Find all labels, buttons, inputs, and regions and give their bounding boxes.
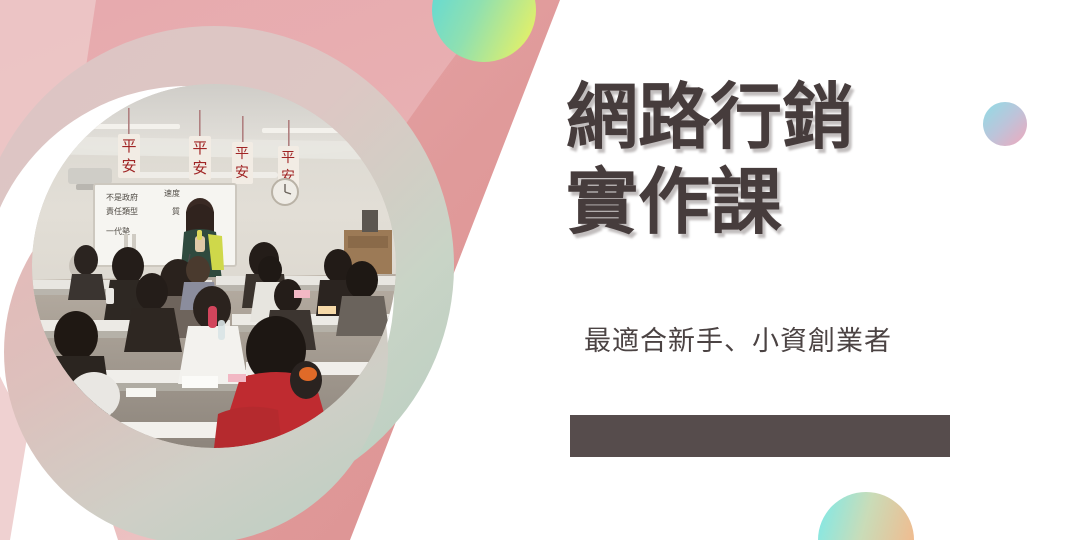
svg-text:速度: 速度 xyxy=(164,188,180,198)
svg-text:平: 平 xyxy=(121,137,136,155)
svg-text:安: 安 xyxy=(235,165,249,181)
svg-text:平: 平 xyxy=(235,146,249,162)
svg-text:責任類型: 責任類型 xyxy=(106,206,138,216)
poster-canvas: 平 安 平 安 平 安 平 安 xyxy=(0,0,1080,540)
text-column: 網路行銷 實作課 最適合新手、小資創業者 xyxy=(566,0,986,540)
svg-text:平: 平 xyxy=(192,139,207,157)
svg-text:質: 質 xyxy=(172,206,180,216)
svg-text:安: 安 xyxy=(192,159,207,177)
poster-title-line-1: 網路行銷 xyxy=(566,76,854,161)
gradient-dot-right-icon xyxy=(983,102,1027,146)
svg-text:不是政府: 不是政府 xyxy=(106,192,138,202)
svg-text:安: 安 xyxy=(121,157,136,175)
poster-subtitle: 最適合新手、小資創業者 xyxy=(584,322,892,360)
svg-text:平: 平 xyxy=(281,150,295,166)
classroom-photo: 平 安 平 安 平 安 平 安 xyxy=(32,84,396,448)
poster-title: 網路行銷 實作課 xyxy=(566,76,854,246)
poster-banner-bar xyxy=(570,415,950,457)
poster-title-line-2: 實作課 xyxy=(566,161,854,246)
